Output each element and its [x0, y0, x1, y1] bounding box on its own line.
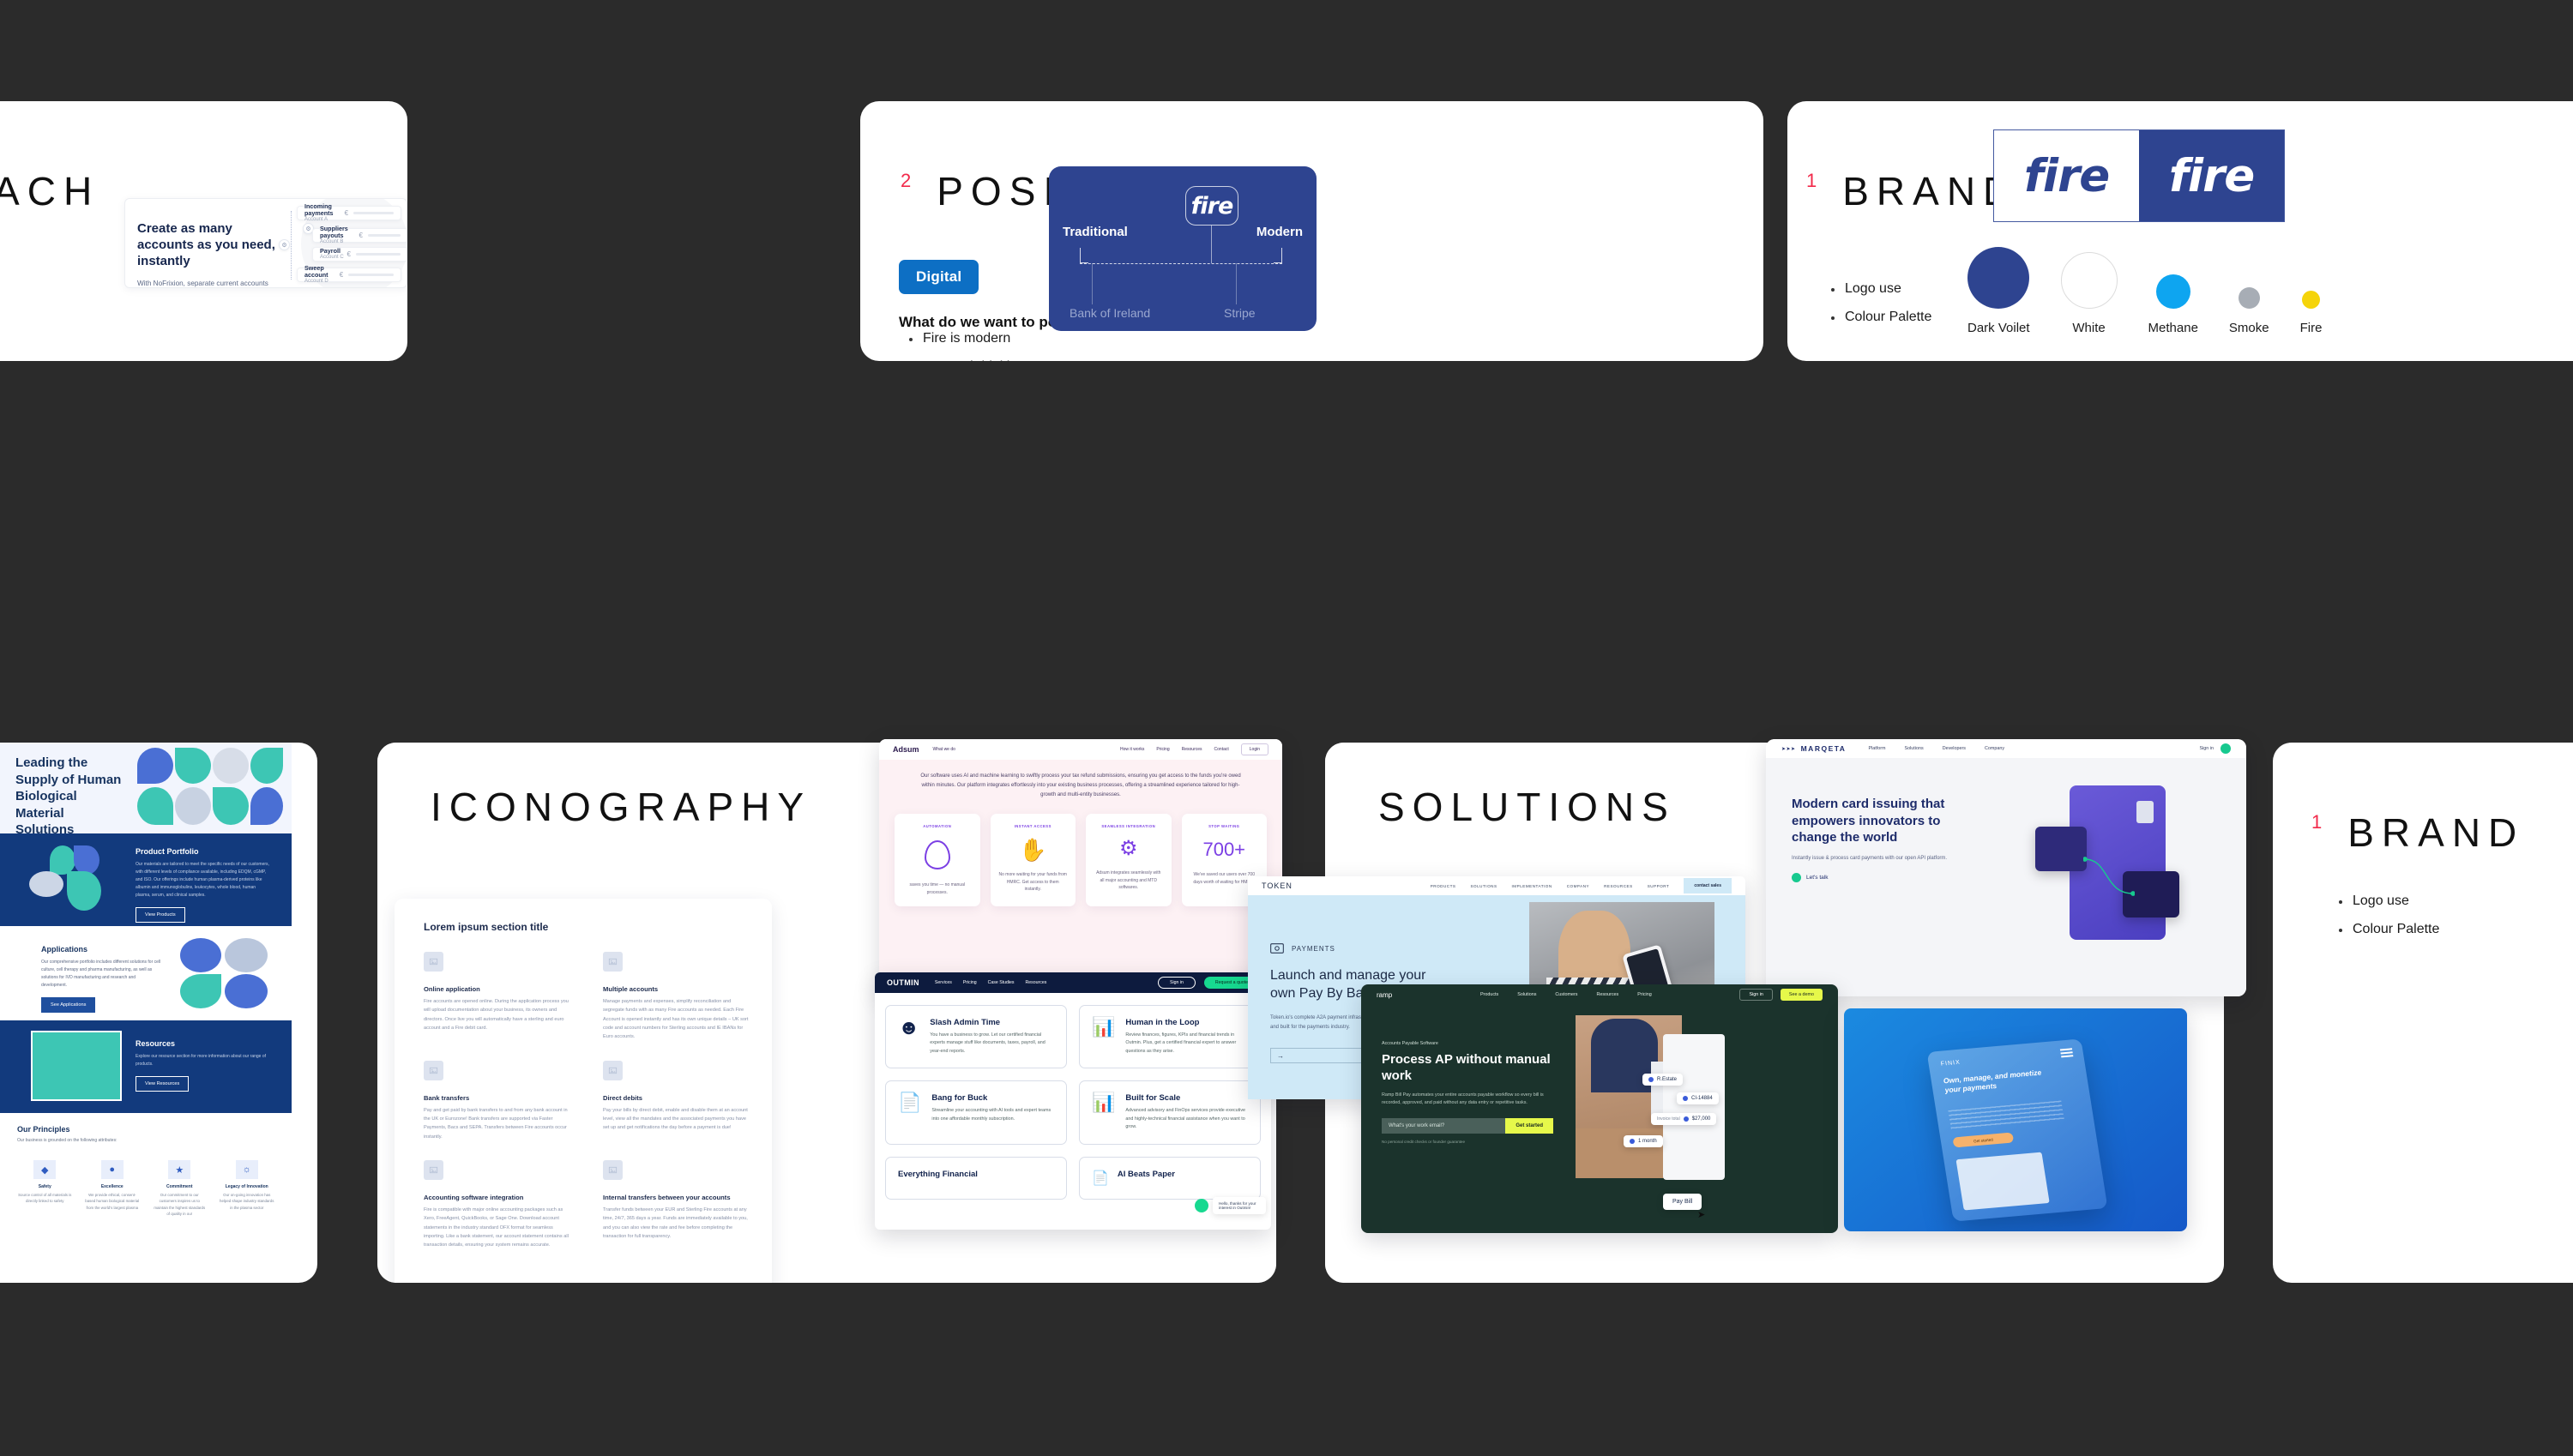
chart-icon: 📊 [1092, 1018, 1115, 1056]
nav-item[interactable]: Contact [1214, 747, 1229, 752]
bio-hero: Leading the Supply of Human Biological M… [0, 743, 292, 833]
person-icon: ☻ [898, 1018, 919, 1056]
card-heading: Everything Financial [898, 1170, 1054, 1179]
principle-name: Excellence [85, 1184, 141, 1189]
outmin-card: 📊 Built for Scale Advanced advisory and … [1079, 1080, 1261, 1144]
nav-item[interactable]: Case Studies [988, 980, 1015, 985]
fire-logo-box: fire [1185, 186, 1238, 226]
card-body: saves you time — no manual processes. [903, 881, 972, 896]
feature-heading: Bank transfers [424, 1094, 570, 1102]
chat-avatar[interactable] [1195, 1199, 1208, 1212]
hand-icon: ✋ [1019, 839, 1046, 861]
nav-item[interactable]: Resources [1026, 980, 1047, 985]
bio-section-body: Our materials are tailored to meet the s… [136, 861, 269, 899]
principles-heading: Our Principles [17, 1125, 274, 1134]
feature-item: Internal transfers between your accounts… [603, 1160, 750, 1250]
swatch-label: Dark Voilet [1967, 321, 2030, 335]
nav-item[interactable]: Pricing [1637, 992, 1651, 997]
account-name: Sweep account [304, 265, 340, 280]
fire-wordmark: fire [1191, 193, 1233, 220]
bio-section-heading: Applications [41, 945, 161, 954]
nav-item[interactable]: Platform [1868, 746, 1885, 751]
token-kicker: PAYMENTS [1292, 945, 1335, 953]
bio-section-heading: Resources [136, 1039, 269, 1048]
email-field[interactable]: What's your work email? [1382, 1118, 1505, 1134]
nav-item[interactable]: COMPANY [1567, 884, 1589, 888]
marqeta-chevrons-icon: ➤➤➤ [1781, 746, 1796, 752]
card-kicker: SEAMLESS INTEGRATION [1101, 824, 1155, 828]
nav-item[interactable]: Developers [1943, 746, 1966, 751]
marqeta-body: Instantly issue & process card payments … [1792, 854, 1955, 863]
principle-name: Legacy of Innovation [220, 1184, 275, 1189]
account-sub: Account B [320, 239, 359, 245]
nav-item[interactable]: Pricing [1156, 747, 1169, 752]
swatch-white[interactable]: White [2061, 252, 2118, 335]
outmin-card: ☻ Slash Admin Time You have a business t… [885, 1005, 1067, 1068]
slide-number: 1 [2311, 813, 2322, 832]
feature-body: Pay and get paid by bank transfers to an… [424, 1106, 570, 1141]
bio-section-resources: Resources Explore our resource section f… [0, 1020, 292, 1113]
bio-principles: Our Principles Our business is grounded … [0, 1113, 292, 1207]
feature-body: Pay your bills by direct debit, enable a… [603, 1106, 750, 1133]
card-body: Adsum integrates seamlessly with all maj… [1094, 869, 1163, 892]
star-icon: ★ [168, 1160, 190, 1179]
view-products-button[interactable]: View Products [136, 907, 185, 923]
adsum-logo: Adsum [893, 745, 919, 754]
ramp-logo: ramp [1377, 991, 1392, 999]
money-icon [1270, 943, 1284, 954]
colour-palette: Dark Voilet White Methane Smoke Fire [1967, 247, 2322, 335]
bio-site-mock: Leading the Supply of Human Biological M… [0, 743, 292, 1283]
shield-icon [925, 840, 950, 869]
nav-item[interactable]: Company [1985, 746, 2004, 751]
account-sub: Account A [304, 217, 345, 223]
logo-usage-block: fire fire [1993, 129, 2285, 222]
get-started-button[interactable]: Get started [1952, 1132, 2014, 1147]
nf-body: With NoFrixion, separate current account… [137, 278, 279, 288]
portray-bullets: Fire is modern Forward-thinking A seamle… [907, 331, 1064, 361]
image-placeholder-icon [424, 1061, 443, 1080]
lightbulb-icon: ☼ [236, 1160, 258, 1179]
swatch-label: Methane [2148, 321, 2198, 335]
feature-body: Fire is compatible with major online acc… [424, 1206, 570, 1250]
slide-positioning[interactable]: 2 POSITIONING Digital What do we want to… [860, 101, 1763, 361]
page-title: APPROACH [0, 171, 99, 211]
nav-item[interactable]: Solutions [1905, 746, 1924, 751]
marqeta-site-mock: ➤➤➤ MARQETA Platform Solutions Developer… [1766, 739, 2246, 996]
feature-item: Accounting software integration Fire is … [424, 1160, 570, 1250]
chat-bubble: Hello, thanks for your interest in Outmi… [1213, 1197, 1266, 1214]
nav-item[interactable]: Customers [1555, 992, 1577, 997]
nav-item[interactable]: SUPPORT [1648, 884, 1670, 888]
nav-item[interactable]: PRODUCTS [1431, 884, 1456, 888]
fire-wordmark-light: fire [2169, 150, 2254, 202]
chip: CI-14884 [1677, 1092, 1719, 1104]
chip: R.Estate [1642, 1074, 1683, 1086]
finix-heading: Own, manage, and monetize your payments [1943, 1067, 2057, 1095]
list-item: Fire is modern [907, 331, 1064, 346]
card-body: No more waiting for your funds from HMRC… [999, 871, 1068, 893]
avatar[interactable] [2220, 743, 2231, 754]
account-row: Incoming payments Account A € [297, 206, 401, 220]
feature-body: Fire accounts are opened online. During … [424, 997, 570, 1032]
arrow-right-icon: → [1271, 1052, 1290, 1060]
swatch-fire[interactable]: Fire [2300, 291, 2323, 335]
nav-item[interactable]: Products [1480, 992, 1498, 997]
adsum-card: AUTOMATION saves you time — no manual pr… [895, 814, 980, 906]
card-kicker: STOP WAITING [1208, 824, 1239, 828]
lets-talk-button[interactable]: Let's talk [1792, 873, 1955, 882]
menu-icon[interactable] [2060, 1048, 2072, 1050]
nav-item[interactable]: Resources [1182, 747, 1202, 752]
list-item: Colour Palette [1829, 310, 1931, 325]
section-title: Lorem ipsum section title [424, 921, 548, 933]
token-logo: TOKEN [1262, 881, 1293, 890]
account-row: Suppliers payouts Account B € [312, 228, 407, 243]
card-kicker: INSTANT ACCESS [1015, 824, 1051, 828]
feature-heading: Internal transfers between your accounts [603, 1194, 750, 1201]
stat-value: 700+ [1202, 839, 1245, 861]
principle-name: Safety [17, 1184, 73, 1189]
list-item: Colour Palette [2337, 922, 2439, 937]
card-heading: Built for Scale [1125, 1093, 1248, 1103]
slide-brand-bottom[interactable]: 1 BRAND Logo use Colour Palette [2273, 743, 2573, 1283]
image-placeholder-icon [603, 1061, 623, 1080]
signin-button[interactable]: Sign in [1739, 989, 1772, 1001]
image-placeholder-icon [424, 1160, 443, 1180]
finix-mock: FINIX Own, manage, and monetize your pay… [1844, 1008, 2187, 1231]
account-name: Payroll [320, 248, 344, 255]
principles-sub: Our business is grounded on the followin… [17, 1138, 274, 1143]
documents-icon: 📄 [898, 1093, 921, 1131]
principle-name: Commitment [152, 1184, 208, 1189]
connector-icon [2083, 856, 2135, 899]
card-body: You have a business to grow. Let our cer… [930, 1032, 1054, 1056]
presentation-board: APPROACH Digital What do we want to port… [0, 0, 2573, 1456]
outmin-card: 📊 Human in the Loop Review finances, fig… [1079, 1005, 1261, 1068]
list-item: Logo use [1829, 281, 1931, 297]
view-resources-button[interactable]: View Resources [136, 1076, 189, 1092]
bio-section-body: Explore our resource section for more in… [136, 1053, 269, 1068]
card-heading: Human in the Loop [1125, 1018, 1248, 1027]
ramp-site-mock: ramp Products Solutions Customers Resour… [1361, 984, 1838, 1233]
bio-section-product: Product Portfolio Our materials are tail… [0, 833, 292, 926]
chip: Invoice total $27,000 [1651, 1113, 1716, 1125]
swatch-methane[interactable]: Methane [2148, 274, 2198, 335]
tag-digital[interactable]: Digital [899, 260, 979, 294]
list-item: Forward-thinking [907, 359, 1064, 361]
nav-item[interactable]: Resources [1596, 992, 1618, 997]
feature-item: Online application Fire accounts are ope… [424, 952, 570, 1042]
signin-button[interactable]: Sign in [1158, 977, 1196, 989]
brand-bullets: Logo use Colour Palette [2337, 893, 2439, 950]
marqeta-logo: MARQETA [1801, 744, 1847, 753]
nav-item[interactable]: Solutions [1517, 992, 1536, 997]
example-right: Stripe [1224, 306, 1256, 320]
email-signup[interactable]: What's your work email? Get started [1382, 1118, 1553, 1134]
bio-section-applications: Applications Our comprehensive portfolio… [0, 926, 292, 1020]
feature-item: Multiple accounts Manage payments and ex… [603, 952, 750, 1042]
card-kicker: AUTOMATION [923, 824, 951, 828]
positioning-diagram: fire Traditional Modern Bank of Ireland … [1049, 166, 1317, 331]
adsum-intro: Our software uses AI and machine learnin… [879, 760, 1282, 800]
fire-wordmark-dark: fire [2024, 150, 2109, 202]
swatch-smoke[interactable]: Smoke [2229, 287, 2269, 335]
bio-section-heading: Product Portfolio [136, 847, 269, 856]
chart-icon: 📊 [1092, 1093, 1115, 1131]
slide-brand-top[interactable]: 1 BRAND Logo use Colour Palette fire fir… [1787, 101, 2573, 361]
outmin-card: Everything Financial [885, 1157, 1067, 1200]
iconography-mock: Lorem ipsum section title Online applica… [395, 899, 772, 1283]
image-placeholder-icon [603, 1160, 623, 1180]
principle-body: Our on-going innovation has helped shape… [220, 1192, 275, 1211]
feature-body: Transfer funds between your EUR and Ster… [603, 1206, 750, 1241]
slide-approach[interactable]: APPROACH Digital What do we want to port… [0, 101, 407, 361]
adsum-card: SEAMLESS INTEGRATION ⚙ Adsum integrates … [1086, 814, 1172, 906]
chip: 1 month [1624, 1135, 1663, 1147]
card-heading: AI Beats Paper [1118, 1170, 1175, 1187]
account-row: Payroll Account C € [312, 247, 407, 262]
page-title: BRAND [2347, 813, 2524, 852]
dot-icon [1792, 873, 1801, 882]
card-body: Advanced advisory and FinOps services pr… [1125, 1107, 1248, 1131]
slide-number: 1 [1806, 171, 1817, 190]
adsum-site-mock: Adsum What we do How it works Pricing Re… [879, 739, 1282, 996]
outmin-card: 📄 AI Beats Paper [1079, 1157, 1261, 1200]
signin-link[interactable]: Sign in [2200, 746, 2214, 751]
nav-item[interactable]: Services [935, 980, 952, 985]
card-body: Streamline your accounting with AI tools… [931, 1107, 1054, 1123]
principle-body: Source control of all materials is direc… [17, 1192, 73, 1205]
feature-heading: Direct debits [603, 1094, 750, 1102]
nav-item[interactable]: RESOURCES [1604, 884, 1633, 888]
axis-label-left: Traditional [1063, 225, 1128, 239]
image-placeholder-icon [603, 952, 623, 972]
nf-heading: Create as many accounts as you need, ins… [137, 221, 279, 269]
nav-item[interactable]: SOLUTIONS [1470, 884, 1497, 888]
account-sub: Account D [304, 279, 340, 285]
swatch-dark-voilet[interactable]: Dark Voilet [1967, 247, 2030, 335]
account-name: Incoming payments [304, 203, 345, 218]
bio-heading: Leading the Supply of Human Biological M… [15, 755, 123, 839]
slide-number: 2 [901, 171, 911, 190]
slide-bio-website[interactable]: Leading the Supply of Human Biological M… [0, 743, 317, 1283]
account-name: Suppliers payouts [320, 226, 359, 240]
see-applications-button[interactable]: See Applications [41, 997, 95, 1013]
adsum-card: INSTANT ACCESS ✋ No more waiting for you… [991, 814, 1076, 906]
cursor-icon: ➤ [1697, 1209, 1705, 1220]
brand-bullets: Logo use Colour Palette [1829, 281, 1931, 338]
currency-symbol: € [347, 250, 351, 258]
card-heading: Slash Admin Time [930, 1018, 1054, 1027]
nav-item[interactable]: What we do [933, 747, 955, 752]
slide-iconography[interactable]: ICONOGRAPHY Lorem ipsum section title On… [377, 743, 1276, 1283]
card-body: Review finances, figures, KPIs and finan… [1125, 1032, 1248, 1056]
ramp-note: No personal credit checks or founder gua… [1382, 1140, 1553, 1144]
ramp-heading: Process AP without manual work [1382, 1052, 1553, 1085]
see-demo-button[interactable]: See a demo [1781, 989, 1823, 1001]
nav-item[interactable]: Pricing [963, 980, 977, 985]
outmin-card: 📄 Bang for Buck Streamline your accounti… [885, 1080, 1067, 1144]
shield-icon: ◆ [33, 1160, 56, 1179]
principle-body: Our commitment to our customers inspires… [152, 1192, 208, 1218]
feature-body: Manage payments and expenses, simplify r… [603, 997, 750, 1042]
nav-item[interactable]: IMPLEMENTATION [1512, 884, 1552, 888]
account-row: Sweep account Account D € [297, 268, 401, 282]
contact-sales-button[interactable]: contact sales [1684, 878, 1732, 893]
image-placeholder-icon [424, 952, 443, 972]
example-left: Bank of Ireland [1070, 306, 1150, 320]
get-started-button[interactable]: Get started [1505, 1118, 1553, 1134]
account-sub: Account C [320, 255, 344, 261]
list-item: Logo use [2337, 893, 2439, 909]
slide-solutions[interactable]: SOLUTIONS TOKEN PRODUCTS SOLUTIONS IMPLE… [1325, 743, 2224, 1283]
feature-item: Direct debits Pay your bills by direct d… [603, 1061, 750, 1141]
principle-body: We provide ethical, consent-based human … [85, 1192, 141, 1211]
marqeta-heading: Modern card issuing that empowers innova… [1792, 796, 1955, 846]
feature-item: Bank transfers Pay and get paid by bank … [424, 1061, 570, 1141]
bio-section-body: Our comprehensive portfolio includes dif… [41, 959, 161, 990]
swatch-label: Fire [2300, 321, 2323, 335]
swatch-label: Smoke [2229, 321, 2269, 335]
login-button[interactable]: Login [1241, 743, 1268, 755]
outmin-site-mock: OUTMIN Services Pricing Case Studies Res… [875, 972, 1271, 1230]
feature-heading: Accounting software integration [424, 1194, 570, 1201]
pay-bill-button[interactable]: Pay Bill [1663, 1194, 1702, 1210]
currency-symbol: € [340, 271, 343, 279]
medal-icon: ● [101, 1160, 124, 1179]
paper-icon: 📄 [1092, 1170, 1109, 1187]
feature-heading: Multiple accounts [603, 985, 750, 993]
nav-item[interactable]: How it works [1120, 747, 1144, 752]
finix-device: FINIX Own, manage, and monetize your pay… [1926, 1038, 2107, 1221]
nofrixion-product-card: Create as many accounts as you need, ins… [124, 198, 407, 288]
page-title: SOLUTIONS [1378, 787, 1676, 827]
outmin-logo: OUTMIN [887, 978, 919, 987]
feature-heading: Online application [424, 985, 570, 993]
ramp-body: Ramp Bill Pay automates your entire acco… [1382, 1092, 1553, 1108]
currency-symbol: € [345, 209, 348, 217]
gears-icon: ⚙ [1119, 839, 1138, 859]
axis-label-right: Modern [1256, 225, 1303, 239]
card-heading: Bang for Buck [931, 1093, 1054, 1103]
card-illustration [2034, 779, 2196, 950]
ramp-kicker: Accounts Payable Software [1382, 1041, 1553, 1046]
page-title: ICONOGRAPHY [431, 787, 811, 827]
finix-logo: FINIX [1940, 1060, 1961, 1068]
swatch-label: White [2072, 321, 2105, 335]
gear-icon: ⚙ [279, 239, 290, 250]
currency-symbol: € [359, 232, 363, 239]
